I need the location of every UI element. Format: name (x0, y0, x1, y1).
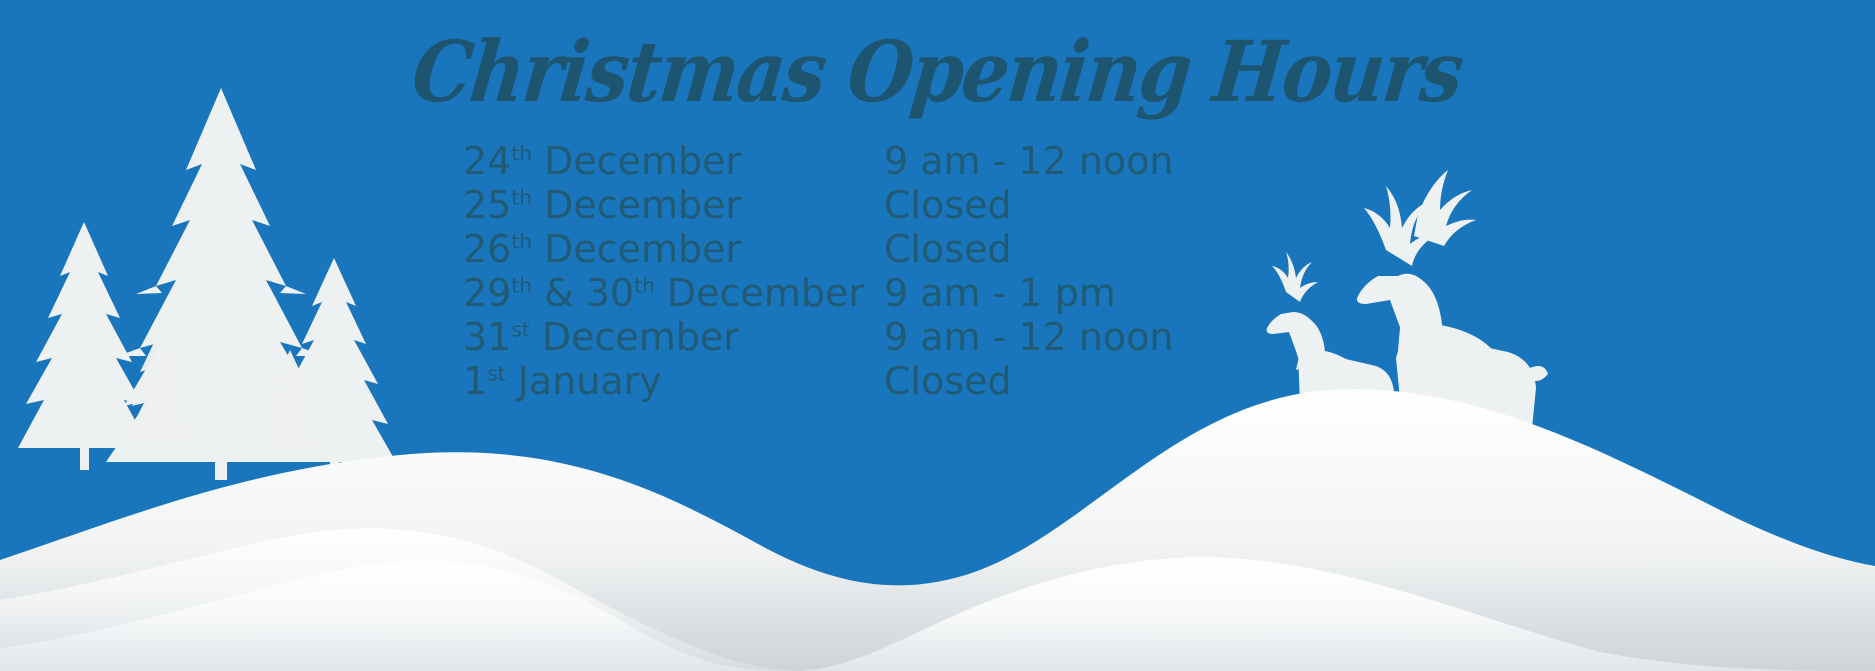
ordinal-suffix-2: th (634, 273, 655, 297)
opening-hours-table: 24th December 9 am - 12 noon 25th Decemb… (463, 139, 1174, 403)
ordinal-suffix: st (511, 317, 529, 341)
christmas-opening-hours-banner: Christmas Opening Hours 24th December 9 … (0, 0, 1875, 671)
date-cell: 31st December (463, 315, 884, 359)
table-row: 31st December 9 am - 12 noon (463, 315, 1174, 359)
ordinal-suffix: th (511, 229, 532, 253)
date-cell: 26th December (463, 227, 884, 271)
table-row: 1st January Closed (463, 359, 1174, 403)
table-row: 24th December 9 am - 12 noon (463, 139, 1174, 183)
date-cell: 1st January (463, 359, 884, 403)
hours-cell: 9 am - 12 noon (884, 139, 1174, 183)
hours-cell: Closed (884, 183, 1174, 227)
table-row: 26th December Closed (463, 227, 1174, 271)
opening-hours-body: 24th December 9 am - 12 noon 25th Decemb… (463, 139, 1174, 403)
date-cell: 29th & 30th December (463, 271, 884, 315)
table-row: 29th & 30th December 9 am - 1 pm (463, 271, 1174, 315)
ordinal-suffix: th (511, 185, 532, 209)
hours-cell: Closed (884, 227, 1174, 271)
ordinal-suffix: th (511, 141, 532, 165)
hours-cell: 9 am - 1 pm (884, 271, 1174, 315)
table-row: 25th December Closed (463, 183, 1174, 227)
hours-cell: Closed (884, 359, 1174, 403)
hours-cell: 9 am - 12 noon (884, 315, 1174, 359)
date-cell: 25th December (463, 183, 884, 227)
ordinal-suffix: th (511, 273, 532, 297)
date-cell: 24th December (463, 139, 884, 183)
ordinal-suffix: st (487, 361, 505, 385)
